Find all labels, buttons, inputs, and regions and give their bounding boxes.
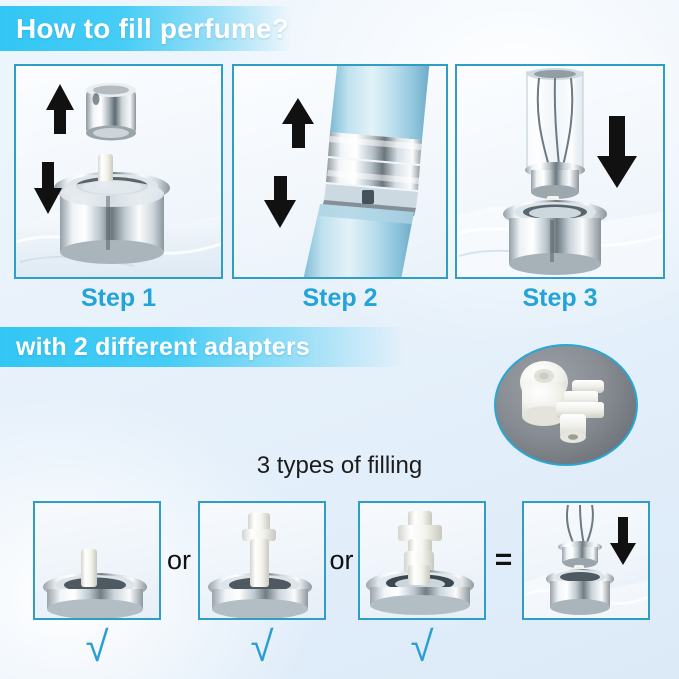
step-2-illustration — [234, 66, 446, 277]
atomizer-upper-body — [330, 66, 430, 140]
bottle-body — [60, 181, 164, 264]
up-arrow-icon — [282, 98, 314, 148]
down-arrow-icon — [597, 116, 637, 188]
type-1-illustration — [35, 503, 159, 618]
type-2-illustration — [200, 503, 324, 618]
checkmark-3: √ — [358, 626, 486, 668]
adapters-banner: with 2 different adapters — [0, 327, 404, 367]
down-arrow-icon — [610, 517, 636, 565]
step-panel-3 — [455, 64, 665, 279]
separator-equals: = — [485, 540, 522, 580]
clear-atomizer-sleeve — [527, 68, 583, 170]
type-3-illustration — [360, 503, 484, 618]
separator-or-2: or — [325, 540, 358, 580]
title-text: How to fill perfume? — [16, 13, 289, 45]
infographic-canvas: How to fill perfume? — [0, 0, 679, 679]
up-arrow-icon — [46, 84, 74, 134]
step-label-3: Step 3 — [455, 283, 665, 313]
adapter-photo-circle — [494, 344, 638, 466]
atomizer-lower-body — [302, 204, 414, 277]
down-arrow-icon — [34, 162, 62, 214]
checkmark-2: √ — [198, 626, 326, 668]
step-3-illustration — [457, 66, 663, 277]
step-panel-2 — [232, 64, 448, 279]
types-title: 3 types of filling — [0, 452, 679, 480]
chrome-ring-lower — [326, 158, 420, 190]
tall-adapter — [398, 525, 442, 541]
step-label-2: Step 2 — [232, 283, 448, 313]
type-panel-1 — [33, 501, 161, 620]
bottle-body — [509, 218, 601, 275]
title-banner: How to fill perfume? — [0, 6, 292, 51]
type-panel-3 — [358, 501, 486, 620]
chrome-cap — [86, 83, 136, 141]
separator-or-1: or — [160, 540, 198, 580]
adapters-text: with 2 different adapters — [16, 333, 310, 362]
checkmark-1: √ — [33, 626, 161, 668]
result-illustration — [524, 503, 648, 618]
down-arrow-icon — [264, 176, 296, 228]
result-panel — [522, 501, 650, 620]
step-1-illustration — [16, 66, 221, 277]
step-label-1: Step 1 — [14, 283, 223, 313]
step-panel-1 — [14, 64, 223, 279]
adapters-illustration — [496, 346, 636, 464]
type-panel-2 — [198, 501, 326, 620]
